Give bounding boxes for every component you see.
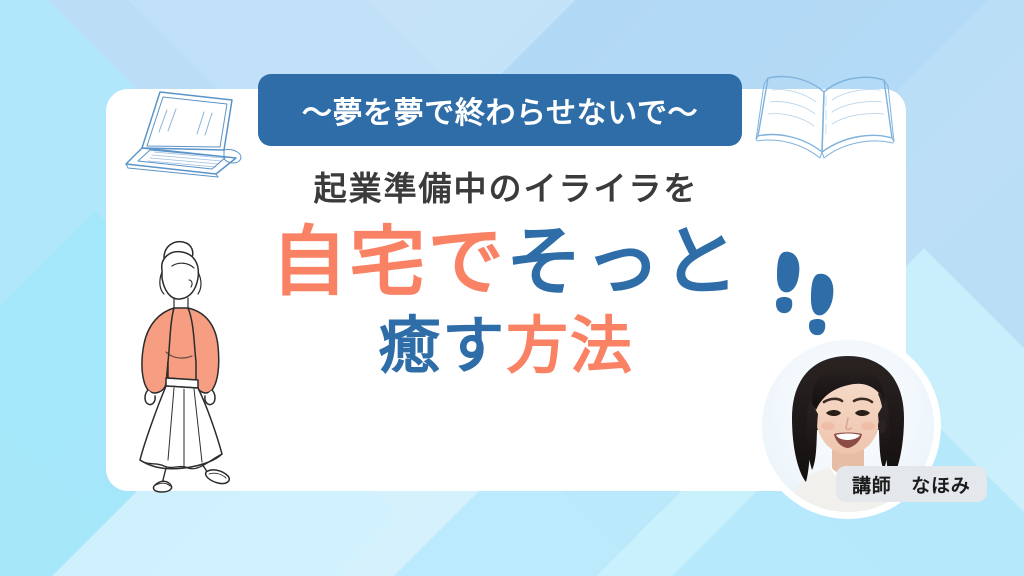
- laptop-icon: [112, 78, 252, 178]
- open-book-icon: [752, 62, 898, 174]
- tagline-text: 〜夢を夢で終わらせないで〜: [302, 88, 698, 132]
- instructor-badge-text: 講師 なほみ: [852, 471, 971, 498]
- footsteps-icon: [770, 248, 842, 338]
- instructor-badge: 講師 なほみ: [836, 466, 987, 502]
- walking-woman-illustration: [112, 232, 252, 494]
- tagline-ribbon: 〜夢を夢で終わらせないで〜: [258, 74, 742, 146]
- poster-canvas: 〜夢を夢で終わらせないで〜 起業準備中のイライラを 自宅でそっと 癒す方法: [0, 0, 1024, 576]
